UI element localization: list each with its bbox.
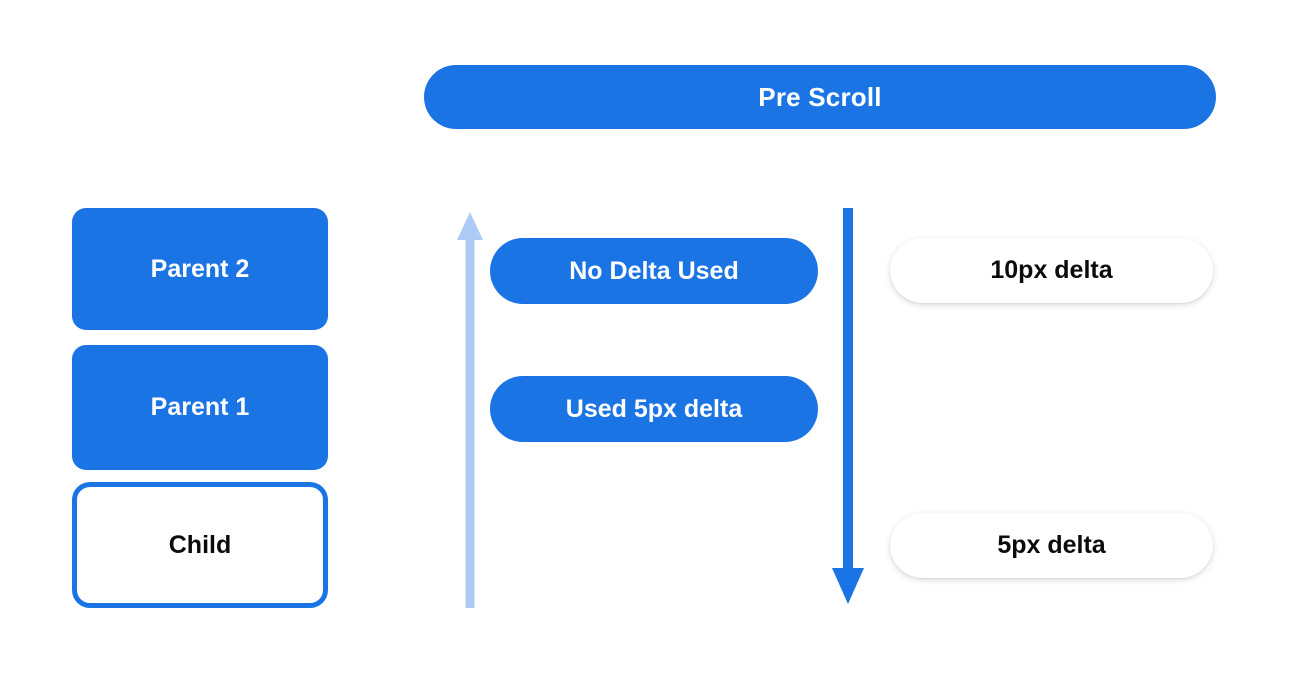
stack-box-parent-2-label: Parent 2	[151, 255, 250, 284]
pill-5px-delta-label: 5px delta	[997, 531, 1105, 560]
diagram-canvas: Pre Scroll Parent 2 Parent 1 Child No De…	[0, 0, 1312, 680]
pill-used-5px-delta: Used 5px delta	[490, 376, 818, 442]
downward-dispatch-arrow	[825, 208, 871, 608]
stack-box-parent-1: Parent 1	[72, 345, 328, 470]
pre-scroll-banner-label: Pre Scroll	[758, 82, 881, 113]
pill-5px-delta: 5px delta	[890, 513, 1213, 578]
pill-10px-delta: 10px delta	[890, 238, 1213, 303]
pill-no-delta-used-label: No Delta Used	[569, 257, 738, 286]
stack-box-parent-2: Parent 2	[72, 208, 328, 330]
stack-box-child: Child	[72, 482, 328, 608]
stack-box-parent-1-label: Parent 1	[151, 393, 250, 422]
stack-box-child-label: Child	[169, 531, 232, 560]
pill-no-delta-used: No Delta Used	[490, 238, 818, 304]
upward-propagation-arrow	[450, 208, 490, 608]
pill-used-5px-delta-label: Used 5px delta	[566, 395, 742, 424]
pre-scroll-banner: Pre Scroll	[424, 65, 1216, 129]
pill-10px-delta-label: 10px delta	[990, 256, 1112, 285]
